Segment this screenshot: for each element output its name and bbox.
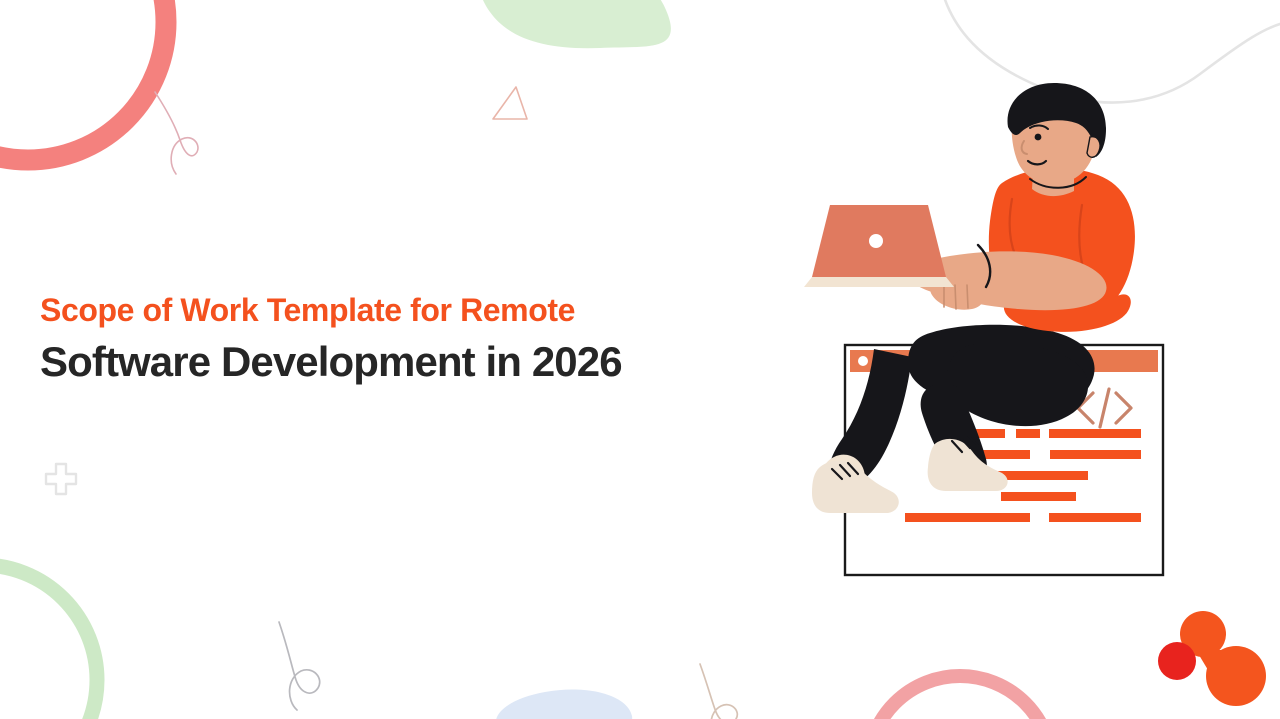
- blue-blob-bottom-center: [496, 689, 632, 719]
- ear: [1087, 137, 1100, 158]
- green-blob-top-center: [477, 0, 671, 48]
- laptop-logo: [869, 234, 883, 248]
- banner-canvas: Scope of Work Template for Remote Softwa…: [0, 0, 1280, 719]
- orange-molecule-bottom-right: [1180, 611, 1266, 706]
- tan-squiggle-bottom-center: [700, 664, 737, 719]
- headline-eyebrow: Scope of Work Template for Remote: [40, 292, 800, 330]
- red-dot-bottom-right: [1158, 642, 1196, 680]
- browser-dot-1: [858, 356, 868, 366]
- pink-ring-bottom-right: [868, 676, 1052, 719]
- pink-squiggle-top-left: [155, 92, 198, 174]
- headline-block: Scope of Work Template for Remote Softwa…: [40, 292, 800, 385]
- page-title: Software Development in 2026: [40, 338, 800, 385]
- eye: [1035, 134, 1042, 141]
- triangle-outline-top-center: [493, 87, 527, 119]
- plus-icon-left: [46, 464, 76, 494]
- gray-squiggle-bottom-left: [279, 622, 320, 710]
- laptop-base: [804, 277, 954, 287]
- remote-developer-illustration: [790, 95, 1190, 590]
- pink-ring-top-left: [0, 0, 166, 160]
- gray-wave-top-right: [938, 0, 1280, 103]
- laptop: [804, 205, 954, 287]
- green-ring-bottom-left: [0, 565, 97, 719]
